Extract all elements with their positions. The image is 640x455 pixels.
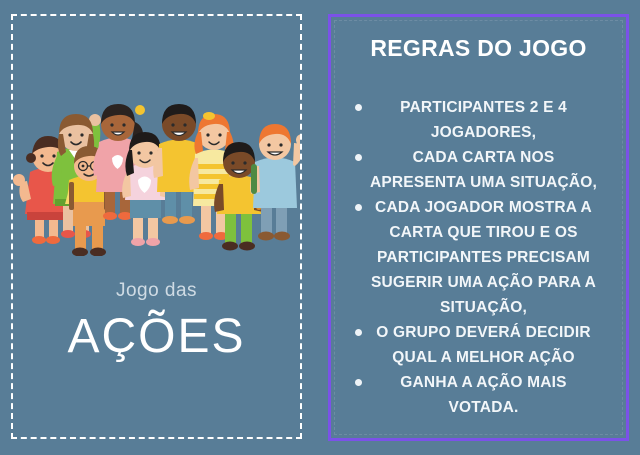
rule-text: CADA JOGADOR MOSTRA A CARTA QUE TIROU E … <box>349 195 608 320</box>
child-blue-shirt-waving <box>250 124 300 241</box>
bullet-icon <box>355 154 362 161</box>
rules-list: PARTICIPANTES 2 E 4 JOGADORES, CADA CART… <box>331 95 626 420</box>
rule-item: GANHA A AÇÃO MAIS VOTADA. <box>331 370 626 420</box>
rule-item: PARTICIPANTES 2 E 4 JOGADORES, <box>331 95 626 145</box>
rule-item: CADA JOGADOR MOSTRA A CARTA QUE TIROU E … <box>331 195 626 320</box>
children-svg <box>13 94 300 256</box>
group-of-children-illustration <box>13 94 300 256</box>
rule-item: O GRUPO DEVERÁ DECIDIR QUAL A MELHOR AÇÃ… <box>331 320 626 370</box>
rule-text: GANHA A AÇÃO MAIS VOTADA. <box>349 370 608 420</box>
rules-title: REGRAS DO JOGO <box>331 35 626 62</box>
rule-text: PARTICIPANTES 2 E 4 JOGADORES, <box>349 95 608 145</box>
rule-text: O GRUPO DEVERÁ DECIDIR QUAL A MELHOR AÇÃ… <box>349 320 608 370</box>
rules-card: REGRAS DO JOGO PARTICIPANTES 2 E 4 JOGAD… <box>328 14 629 441</box>
bullet-icon <box>355 329 362 336</box>
bullet-icon <box>355 204 362 211</box>
cover-subtitle: Jogo das <box>13 280 300 302</box>
rule-item: CADA CARTA NOS APRESENTA UMA SITUAÇÃO, <box>331 145 626 195</box>
game-cover-card: Jogo das AÇÕES <box>11 14 302 439</box>
bullet-icon <box>355 379 362 386</box>
bullet-icon <box>355 104 362 111</box>
rule-text: CADA CARTA NOS APRESENTA UMA SITUAÇÃO, <box>349 145 608 195</box>
poster-canvas: Jogo das AÇÕES REGRAS DO JOGO PARTICIPAN… <box>0 0 640 455</box>
cover-title: AÇÕES <box>13 312 300 362</box>
